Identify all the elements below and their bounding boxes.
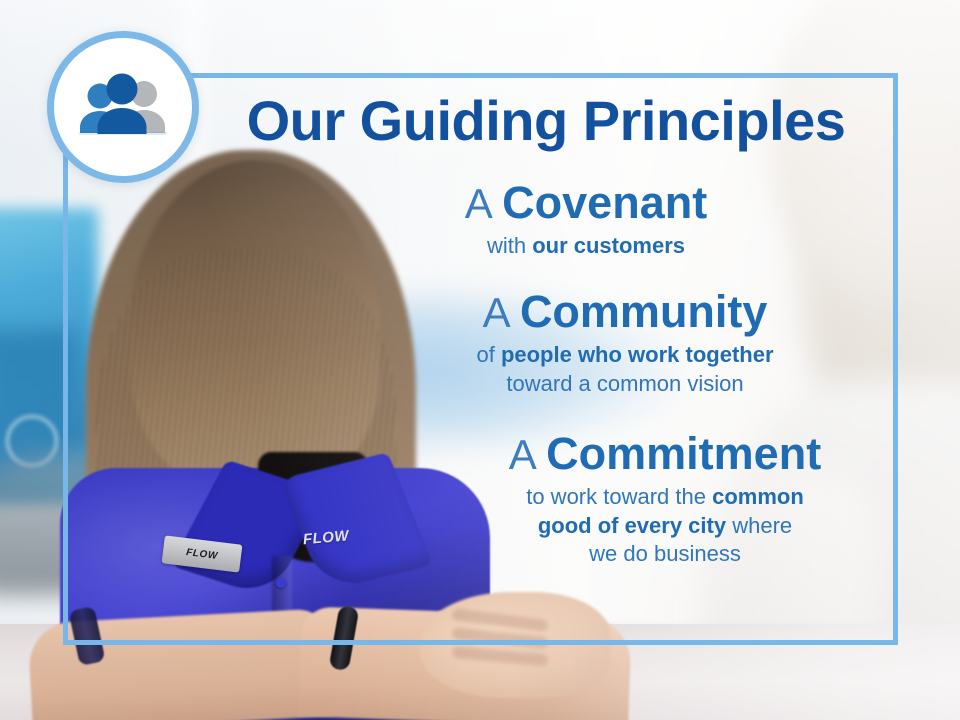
subtext-plain: of [476, 342, 500, 367]
subtext-plain: toward a common vision [506, 371, 743, 396]
principle-article: A [483, 289, 520, 336]
page-title: Our Guiding Principles [216, 92, 876, 151]
subtext-emphasis: good of every city [538, 513, 726, 538]
principle-heading: A Covenant [292, 178, 880, 228]
principle-subtext-line: toward a common vision [370, 370, 880, 399]
principle-subtext-line: we do business [450, 540, 880, 569]
principle-article: A [465, 180, 502, 227]
principle-block: A Covenantwith our customers [292, 178, 880, 261]
principle-subtext: of people who work togethertoward a comm… [370, 341, 880, 398]
principle-article: A [509, 431, 546, 478]
principle-subtext-line: of people who work together [370, 341, 880, 370]
principle-keyword: Commitment [546, 428, 821, 479]
principle-subtext-line: with our customers [292, 232, 880, 261]
woman-shirt-button [276, 578, 286, 588]
frame-left-rail-tick [63, 176, 68, 198]
guiding-principles-graphic: FLOW FLOW [0, 0, 960, 720]
principle-subtext: with our customers [292, 232, 880, 261]
subtext-emphasis: our customers [532, 233, 685, 258]
subtext-emphasis: people who work together [501, 342, 774, 367]
principle-subtext: to work toward the commongood of every c… [450, 483, 880, 569]
principle-block: A Communityof people who work togetherto… [370, 287, 880, 399]
subtext-emphasis: common [712, 484, 804, 509]
subtext-plain: with [487, 233, 532, 258]
principle-keyword: Community [520, 286, 768, 337]
subtext-plain: we do business [589, 541, 741, 566]
principle-keyword: Covenant [502, 177, 707, 228]
principle-heading: A Commitment [450, 429, 880, 479]
people-group-icon [75, 72, 171, 142]
principle-subtext-line: good of every city where [450, 512, 880, 541]
principle-subtext-line: to work toward the common [450, 483, 880, 512]
principle-block: A Commitmentto work toward the commongoo… [450, 429, 880, 569]
subtext-plain: to work toward the [526, 484, 712, 509]
subtext-plain: where [726, 513, 792, 538]
principle-heading: A Community [370, 287, 880, 337]
principles-list: A Covenantwith our customersA Communityo… [300, 178, 880, 579]
people-badge [47, 31, 199, 183]
